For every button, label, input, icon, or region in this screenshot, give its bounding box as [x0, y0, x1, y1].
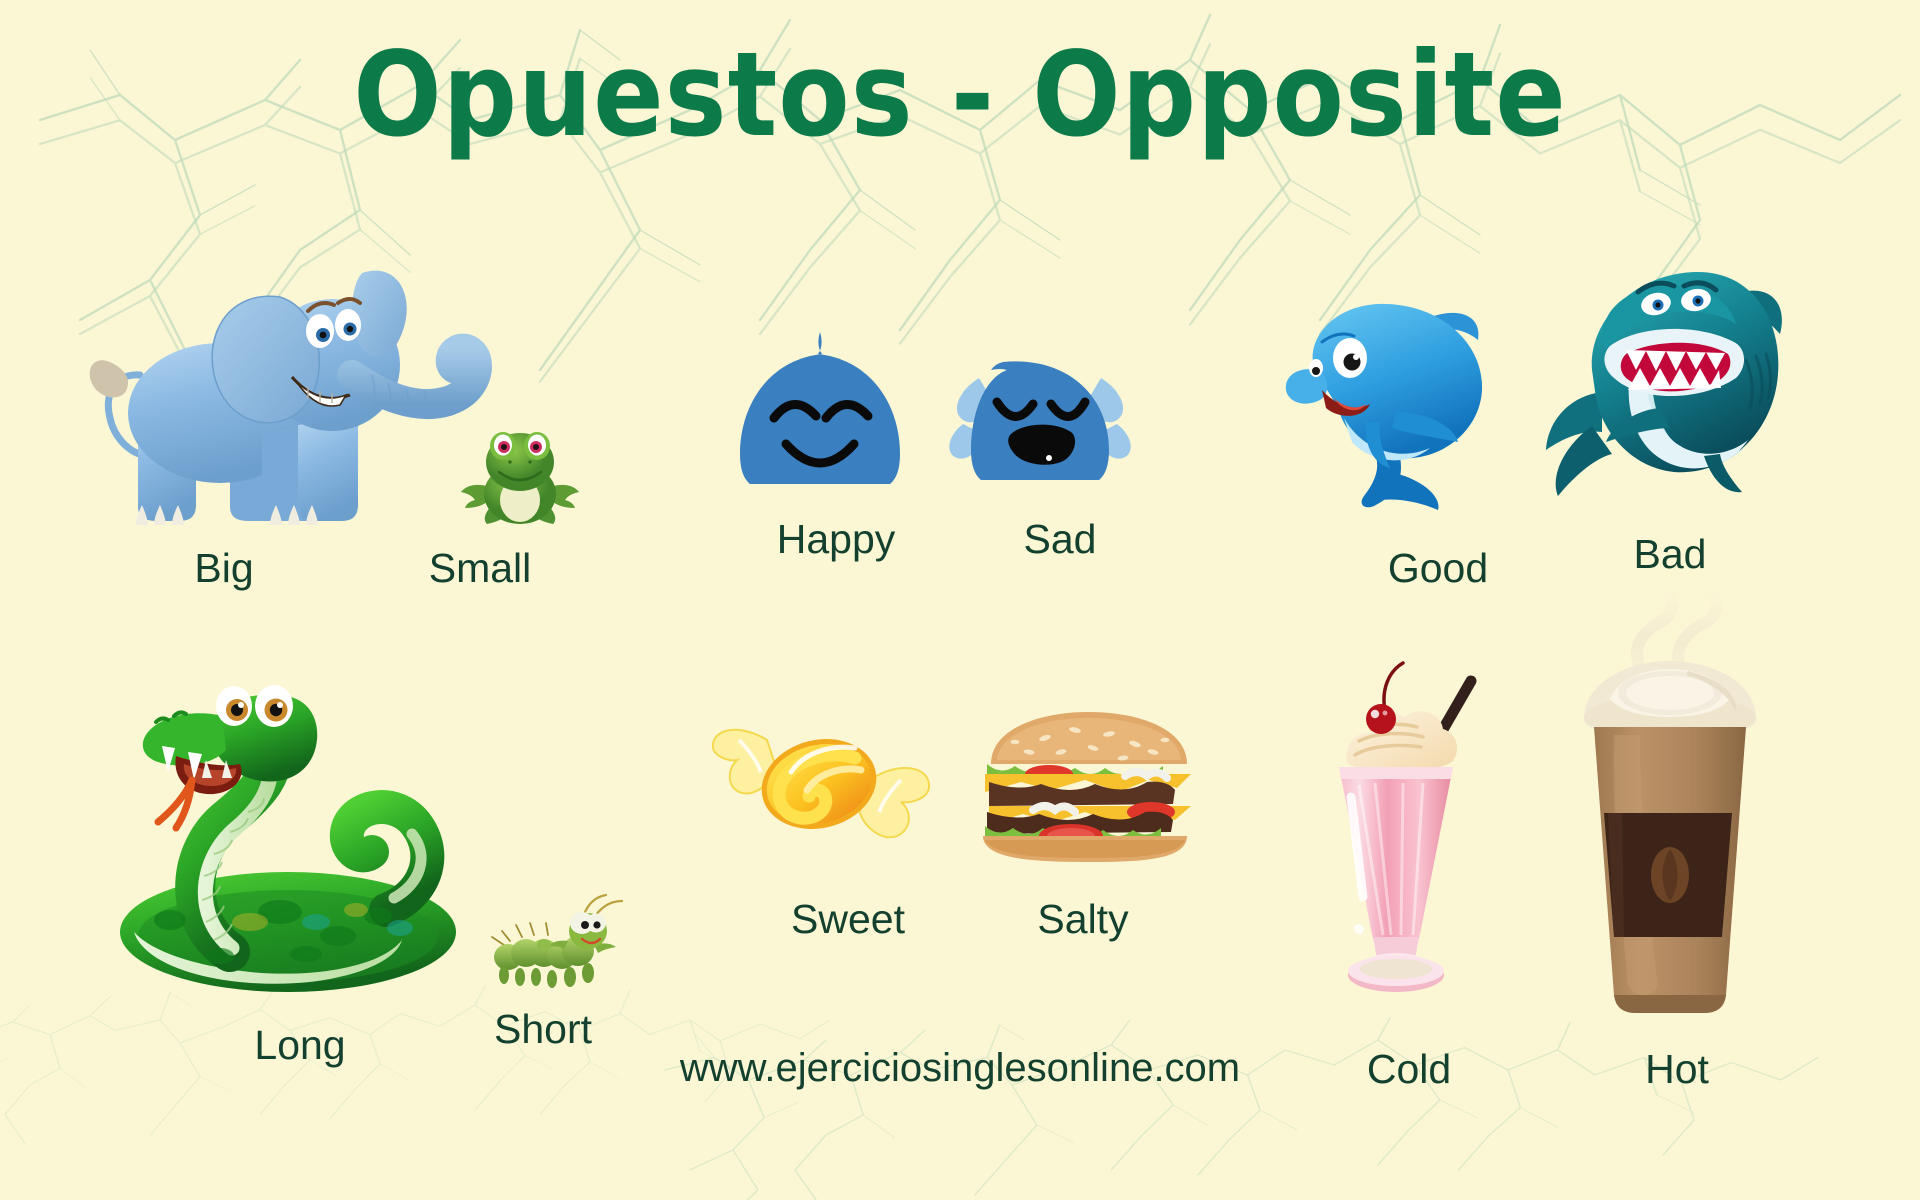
label-small: Small	[429, 545, 532, 592]
label-big: Big	[194, 545, 253, 592]
website-url: www.ejerciciosinglesonline.com	[680, 1046, 1240, 1091]
label-cold: Cold	[1367, 1046, 1451, 1093]
label-hot: Hot	[1645, 1046, 1709, 1093]
label-good: Good	[1388, 545, 1488, 592]
label-salty: Salty	[1037, 896, 1128, 943]
happy-face-icon	[730, 326, 910, 506]
dolphin-illustration	[1278, 272, 1508, 522]
coffee-cup-illustration	[1570, 585, 1770, 1035]
sad-face-icon	[945, 340, 1135, 510]
caterpillar-illustration	[490, 895, 630, 1005]
snake-illustration	[110, 660, 480, 1000]
label-short: Short	[494, 1006, 592, 1053]
frog-illustration	[455, 420, 585, 530]
label-sweet: Sweet	[791, 896, 905, 943]
elephant-illustration	[80, 255, 500, 535]
poster-canvas: Opuestos - Opposite	[0, 0, 1920, 1200]
label-long: Long	[254, 1022, 345, 1069]
hamburger-illustration	[975, 712, 1205, 862]
shark-illustration	[1540, 250, 1790, 520]
page-title: Opuestos - Opposite	[0, 34, 1920, 156]
label-bad: Bad	[1634, 531, 1707, 578]
label-happy: Happy	[777, 516, 896, 563]
candy-illustration	[705, 718, 935, 858]
milkshake-illustration	[1325, 645, 1495, 1035]
label-sad: Sad	[1024, 516, 1097, 563]
